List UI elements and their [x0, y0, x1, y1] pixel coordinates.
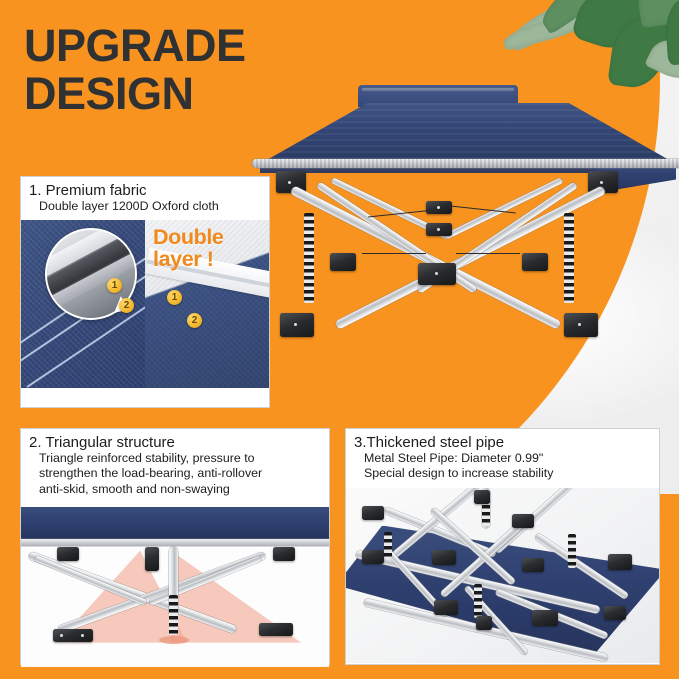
feature-panel-premium-fabric: 1. Premium fabric Double layer 1200D Oxf… [20, 176, 270, 408]
height-adjust-ribs [169, 595, 178, 635]
panel-3-subtitle-line-2: Special design to increase stability [354, 466, 652, 481]
callout-line-1: Double [153, 225, 223, 249]
panel-2-subtitle-line-3: anti-skid, smooth and non-swaying [29, 482, 322, 497]
infographic-root: UPGRADE DESIGN [0, 0, 679, 679]
callout-line-2: layer ! [153, 247, 214, 271]
panel-3-header: 3.Thickened steel pipe Metal Steel Pipe:… [346, 429, 659, 488]
panel-2-subtitle-line-2: strengthen the load-bearing, anti-rollov… [29, 466, 322, 481]
panel-3-image [346, 488, 659, 663]
feature-panel-steel-pipe: 3.Thickened steel pipe Metal Steel Pipe:… [345, 428, 660, 665]
hero-product-image [258, 85, 678, 350]
double-layer-callout-text: Double layer ! [153, 227, 223, 271]
panel-1-title: 1. Premium fabric [29, 182, 262, 199]
panel-1-image: 1 2 1 2 Double layer ! [21, 220, 269, 388]
headline-line-1: UPGRADE [24, 20, 246, 71]
panel-2-header: 2. Triangular structure Triangle reinfor… [21, 429, 329, 503]
panel-1-subtitle: Double layer 1200D Oxford cloth [29, 199, 262, 214]
panel-2-title: 2. Triangular structure [29, 434, 322, 451]
orange-divider-strip [332, 438, 346, 658]
panel-2-image [21, 503, 329, 667]
panel-3-subtitle-line-1: Metal Steel Pipe: Diameter 0.99" [354, 451, 652, 466]
panel-2-subtitle-line-1: Triangle reinforced stability, pressure … [29, 451, 322, 466]
panel-1-header: 1. Premium fabric Double layer 1200D Oxf… [21, 177, 269, 220]
feature-panel-triangular-structure: 2. Triangular structure Triangle reinfor… [20, 428, 330, 665]
panel-3-title: 3.Thickened steel pipe [354, 434, 652, 451]
